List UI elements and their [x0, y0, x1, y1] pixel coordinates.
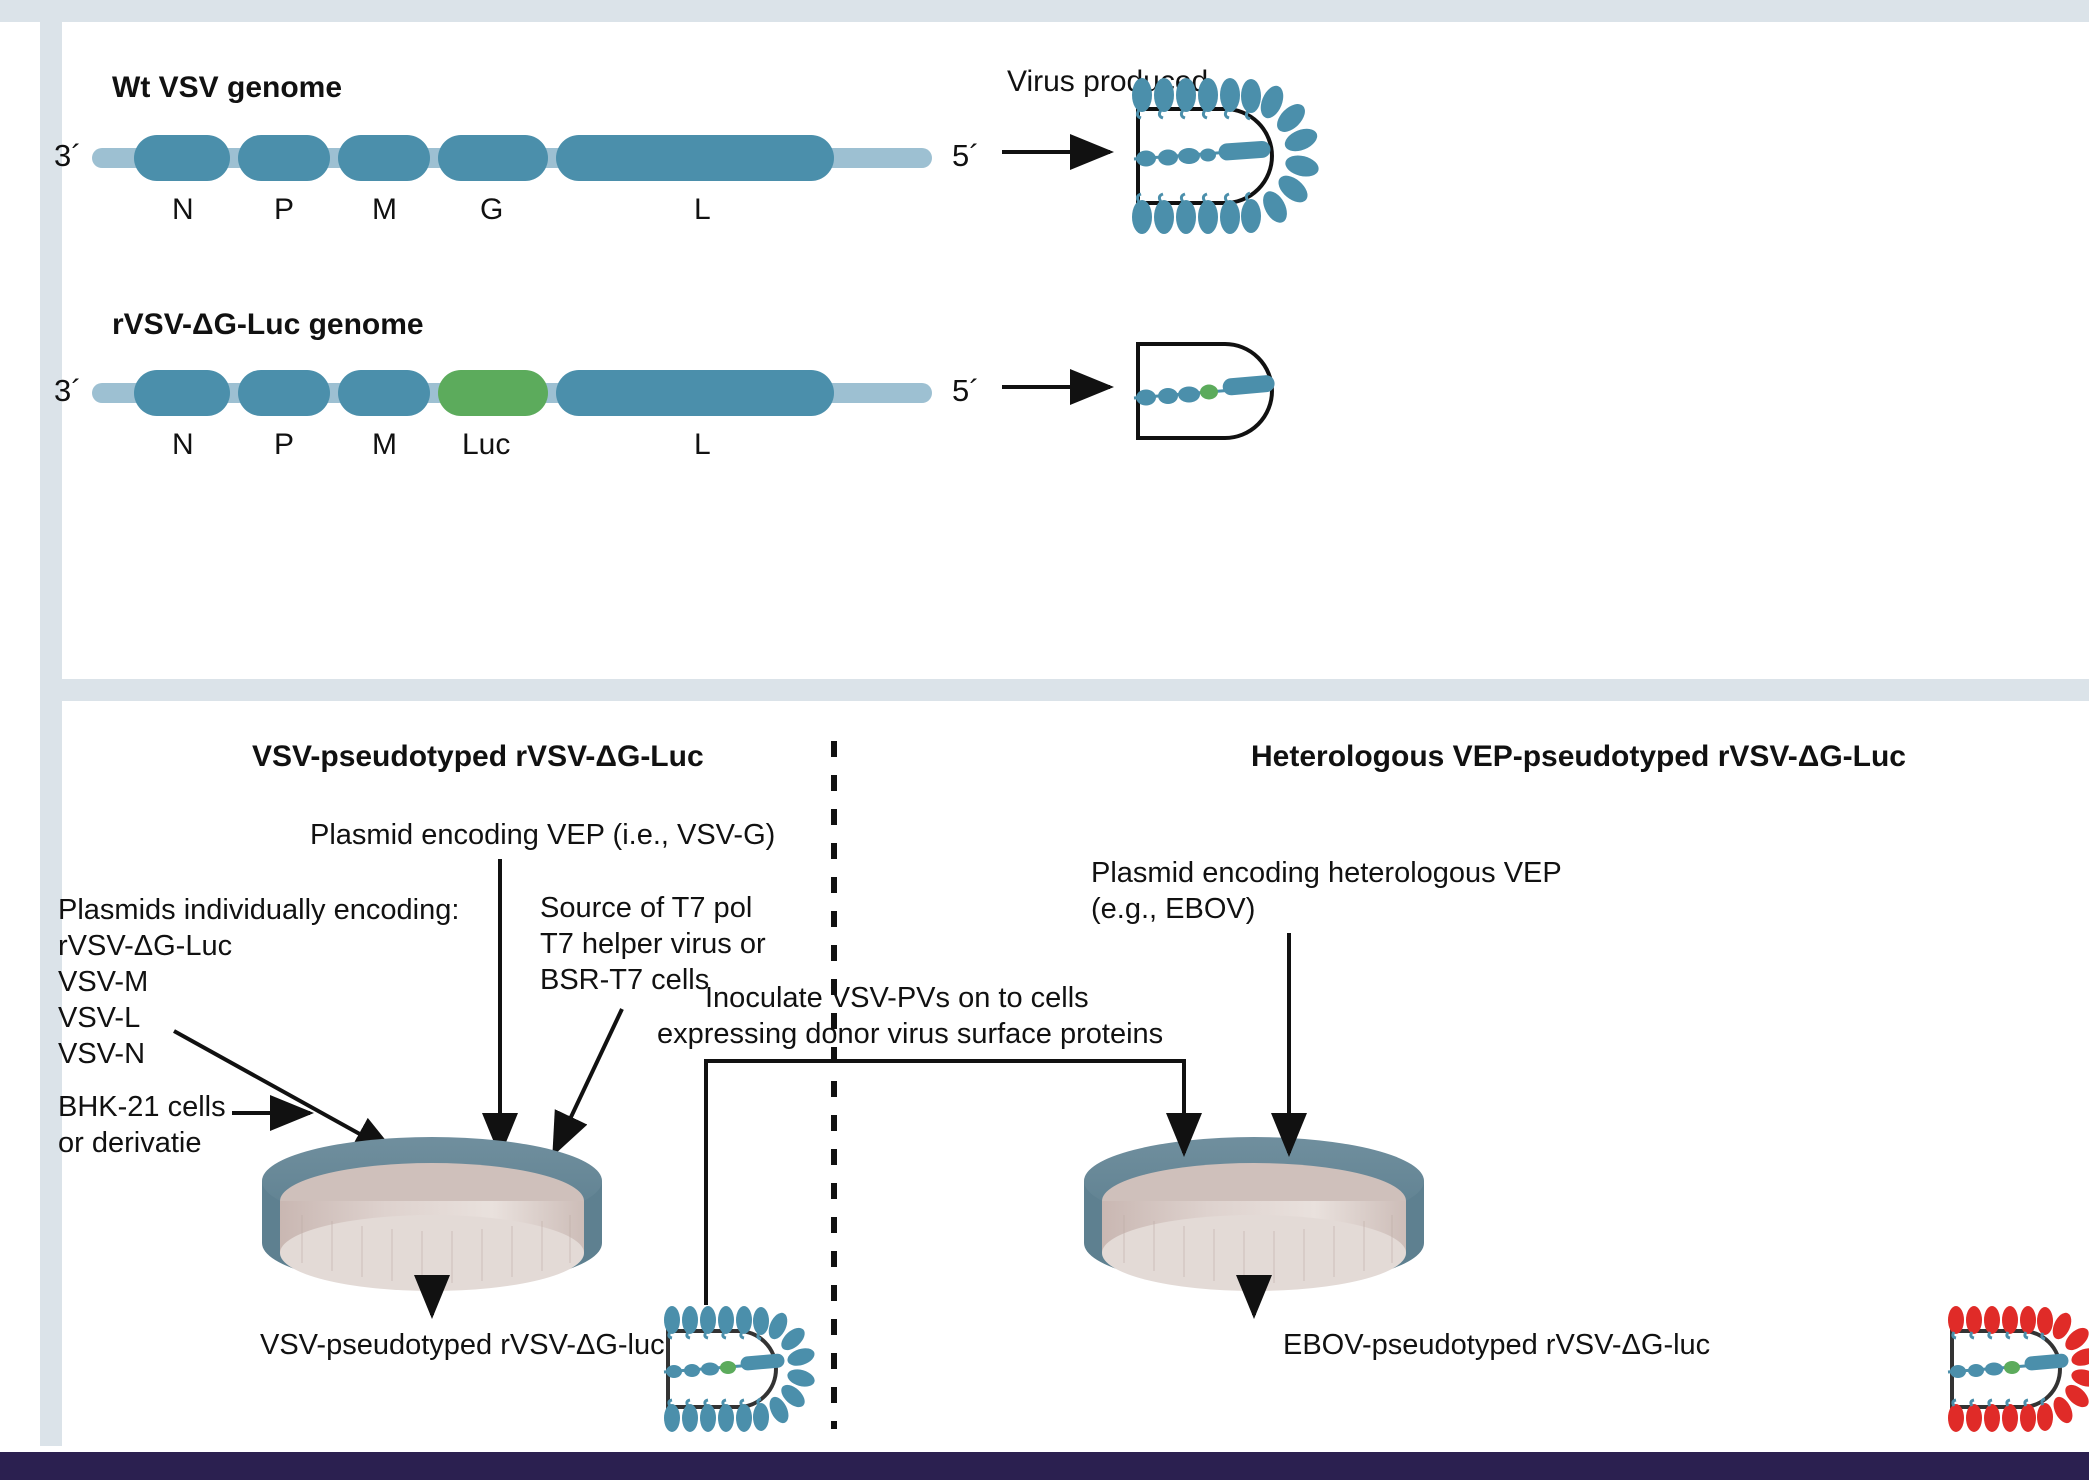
virion-wt-vsv — [1132, 78, 1321, 234]
arrow-plasmids-to-dish — [174, 1031, 394, 1153]
panel-divider-band — [40, 679, 2089, 701]
top-panel: Wt VSV genome 3´ N P M G L 5´ Virus prod… — [62, 22, 2089, 679]
petri-dish-right — [1084, 1137, 1424, 1291]
frame-band-left — [40, 0, 62, 1446]
footer-bar — [0, 1452, 2089, 1480]
particle-rvsv-dg-luc-bare — [1134, 344, 1275, 438]
petri-dish-left — [262, 1137, 602, 1291]
arrow-t7-source-to-dish — [554, 1009, 622, 1153]
virion-ebov-pseudotyped — [1948, 1306, 2089, 1432]
virion-vsv-pseudotyped — [664, 1306, 817, 1432]
top-panel-graphics — [62, 22, 2089, 679]
bottom-panel: VSV-pseudotyped rVSV-ΔG-Luc Heterologous… — [62, 701, 2089, 1452]
bottom-panel-graphics — [62, 701, 2089, 1452]
frame-band-top — [0, 0, 2089, 22]
